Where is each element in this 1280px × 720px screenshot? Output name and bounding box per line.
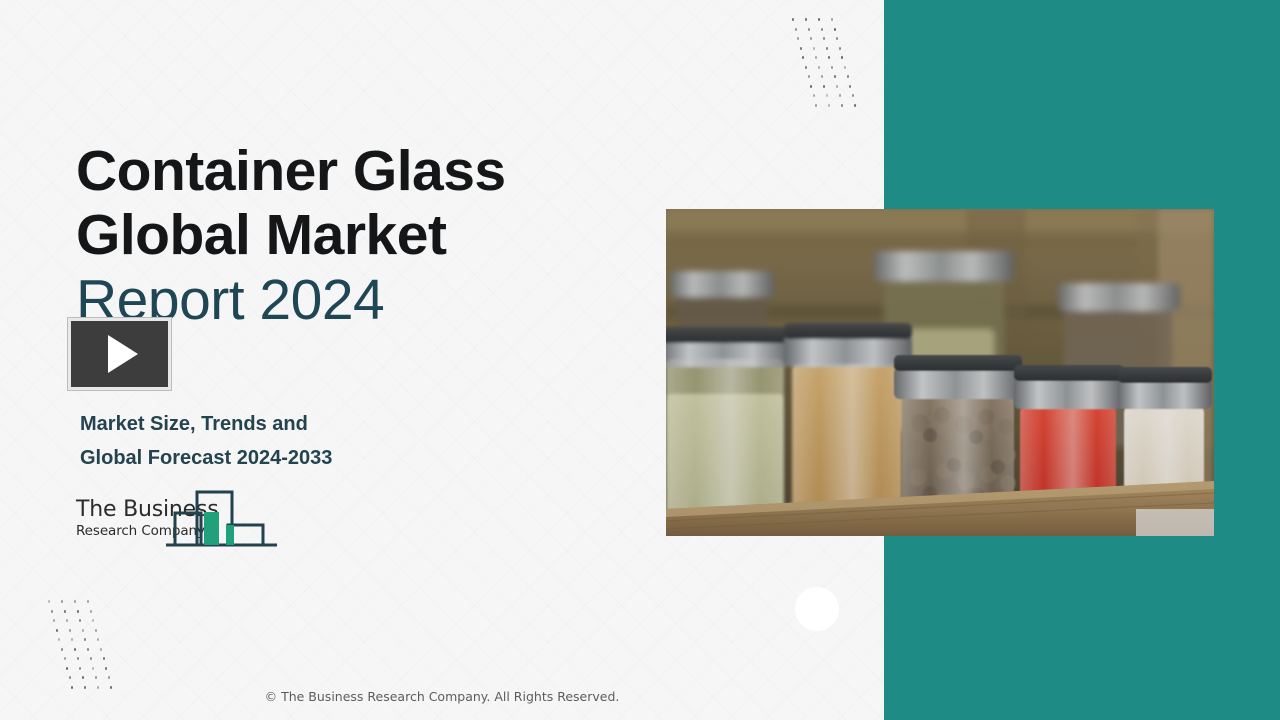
title-line-2: Global Market [76, 203, 636, 267]
decorative-dot [795, 28, 797, 31]
decorative-dot [64, 657, 66, 660]
decorative-dot [841, 104, 843, 107]
decorative-dot [64, 610, 66, 613]
decorative-dot [821, 75, 823, 78]
decorative-dot [836, 37, 838, 40]
decorative-dot [839, 47, 841, 50]
title-line-1: Container Glass [76, 139, 636, 203]
decorative-dot [797, 37, 799, 40]
decorative-dot [105, 667, 107, 670]
decorative-dot [852, 94, 854, 97]
decorative-dot [818, 18, 820, 21]
dot-pattern-top-right [792, 18, 848, 114]
decorative-dot [53, 619, 55, 622]
play-button[interactable] [68, 318, 171, 390]
logo-bar-chart-icon [164, 487, 279, 549]
decorative-dot [87, 600, 89, 603]
decorative-dot [847, 75, 849, 78]
decorative-dot [108, 676, 110, 679]
decorative-dot [808, 28, 810, 31]
page-subtitle: Market Size, Trends and Global Forecast … [80, 408, 500, 475]
hero-photo [666, 209, 1214, 536]
decorative-dot [71, 638, 73, 641]
decorative-dot [839, 94, 841, 97]
decorative-dot [831, 66, 833, 69]
decorative-dot [800, 47, 802, 50]
decorative-dot [821, 28, 823, 31]
decorative-dot [802, 56, 804, 59]
decorative-dot [92, 667, 94, 670]
decorative-dot [823, 37, 825, 40]
decorative-dot [100, 648, 102, 651]
play-triangle-icon [108, 335, 138, 373]
decorative-dot [79, 619, 81, 622]
decorative-dot [97, 638, 99, 641]
decorative-dot [836, 85, 838, 88]
subtitle-line-2: Global Forecast 2024-2033 [80, 442, 500, 476]
decorative-dot [61, 648, 63, 651]
decorative-dot [79, 667, 81, 670]
decorative-dot [69, 676, 71, 679]
decorative-dot [826, 47, 828, 50]
decorative-dot [826, 94, 828, 97]
decorative-dot [92, 619, 94, 622]
decorative-dot [813, 47, 815, 50]
decorative-dot [51, 610, 53, 613]
decorative-dot [90, 610, 92, 613]
decorative-dot [90, 657, 92, 660]
decorative-dot [82, 629, 84, 632]
decorative-dot [810, 37, 812, 40]
decorative-dot [66, 619, 68, 622]
decorative-dot [56, 629, 58, 632]
decorative-dot [69, 629, 71, 632]
decorative-dot [103, 657, 105, 660]
decorative-dot [95, 676, 97, 679]
decorative-dot [61, 600, 63, 603]
circle-accent [795, 587, 839, 631]
subtitle-line-1: Market Size, Trends and [80, 408, 500, 442]
decorative-dot [828, 104, 830, 107]
decorative-dot [810, 85, 812, 88]
decorative-dot [834, 28, 836, 31]
decorative-dot [818, 66, 820, 69]
decorative-dot [805, 18, 807, 21]
decorative-dot [828, 56, 830, 59]
decorative-dot [95, 629, 97, 632]
decorative-dot [815, 56, 817, 59]
decorative-dot [805, 66, 807, 69]
company-logo: The Business Research Company [76, 487, 281, 549]
decorative-dot [66, 667, 68, 670]
decorative-dot [841, 56, 843, 59]
dot-pattern-bottom-left [48, 600, 104, 696]
decorative-dot [808, 75, 810, 78]
decorative-dot [58, 638, 60, 641]
decorative-dot [834, 75, 836, 78]
decorative-dot [813, 94, 815, 97]
decorative-dot [849, 85, 851, 88]
page-title: Container Glass Global Market Report 202… [76, 139, 636, 332]
footer-copyright: © The Business Research Company. All Rig… [0, 689, 884, 704]
decorative-dot [77, 657, 79, 660]
decorative-dot [823, 85, 825, 88]
decorative-dot [844, 66, 846, 69]
decorative-dot [792, 18, 794, 21]
decorative-dot [87, 648, 89, 651]
decorative-dot [815, 104, 817, 107]
decorative-dot [48, 600, 50, 603]
decorative-dot [831, 18, 833, 21]
slide-canvas: Container Glass Global Market Report 202… [0, 0, 1280, 720]
decorative-dot [77, 610, 79, 613]
decorative-dot [74, 648, 76, 651]
decorative-dot [82, 676, 84, 679]
decorative-dot [74, 600, 76, 603]
decorative-dot [84, 638, 86, 641]
